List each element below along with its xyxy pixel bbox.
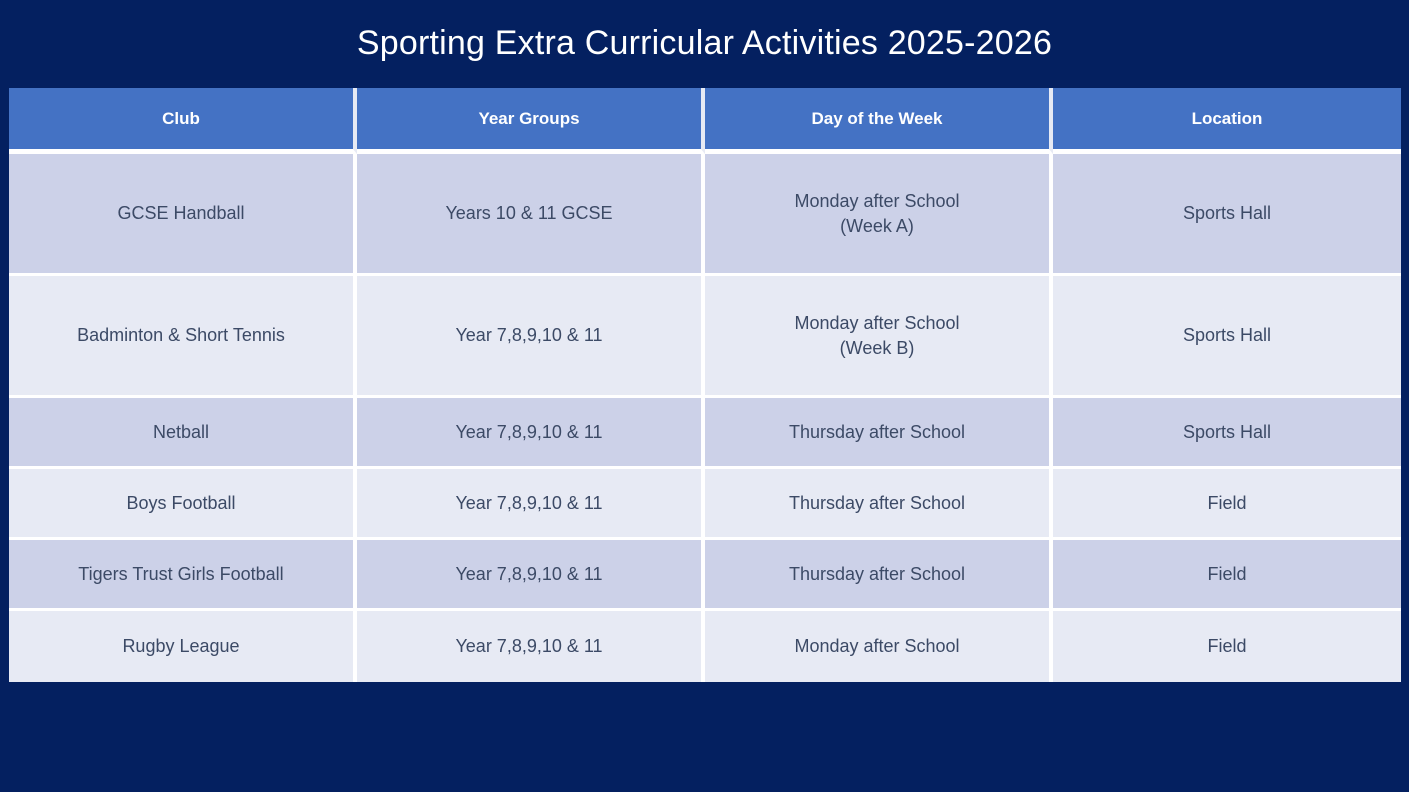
cell-day-of-the-week: Thursday after School	[705, 540, 1053, 611]
cell-location: Field	[1053, 469, 1401, 540]
table-row: Netball Year 7,8,9,10 & 11 Thursday afte…	[9, 398, 1401, 469]
table-header-row: Club Year Groups Day of the Week Locatio…	[9, 88, 1401, 154]
cell-location: Sports Hall	[1053, 276, 1401, 398]
cell-day-of-the-week: Thursday after School	[705, 398, 1053, 469]
table-body: GCSE Handball Years 10 & 11 GCSE Monday …	[9, 154, 1401, 682]
column-header-day-of-the-week: Day of the Week	[705, 88, 1053, 154]
cell-location: Sports Hall	[1053, 398, 1401, 469]
column-header-club: Club	[9, 88, 357, 154]
cell-club: Tigers Trust Girls Football	[9, 540, 357, 611]
cell-location: Field	[1053, 611, 1401, 682]
cell-day-line-1: Monday after School	[713, 311, 1041, 336]
page-title: Sporting Extra Curricular Activities 202…	[0, 20, 1409, 66]
cell-location: Sports Hall	[1053, 154, 1401, 276]
activities-table-container: Club Year Groups Day of the Week Locatio…	[9, 88, 1400, 691]
cell-club: Rugby League	[9, 611, 357, 682]
table-header: Club Year Groups Day of the Week Locatio…	[9, 88, 1401, 154]
activities-table: Club Year Groups Day of the Week Locatio…	[9, 88, 1401, 682]
cell-day-of-the-week: Monday after School	[705, 611, 1053, 682]
column-header-location: Location	[1053, 88, 1401, 154]
table-row: Tigers Trust Girls Football Year 7,8,9,1…	[9, 540, 1401, 611]
column-header-year-groups: Year Groups	[357, 88, 705, 154]
cell-day-line-2: (Week B)	[713, 336, 1041, 361]
cell-day-of-the-week: Monday after School (Week B)	[705, 276, 1053, 398]
cell-year-groups: Year 7,8,9,10 & 11	[357, 469, 705, 540]
cell-year-groups: Year 7,8,9,10 & 11	[357, 276, 705, 398]
cell-club: GCSE Handball	[9, 154, 357, 276]
cell-year-groups: Year 7,8,9,10 & 11	[357, 611, 705, 682]
cell-day-of-the-week: Thursday after School	[705, 469, 1053, 540]
cell-year-groups: Year 7,8,9,10 & 11	[357, 540, 705, 611]
cell-club: Netball	[9, 398, 357, 469]
cell-year-groups: Year 7,8,9,10 & 11	[357, 398, 705, 469]
cell-day-of-the-week: Monday after School (Week A)	[705, 154, 1053, 276]
table-row: Boys Football Year 7,8,9,10 & 11 Thursda…	[9, 469, 1401, 540]
cell-location: Field	[1053, 540, 1401, 611]
table-row: GCSE Handball Years 10 & 11 GCSE Monday …	[9, 154, 1401, 276]
cell-club: Boys Football	[9, 469, 357, 540]
cell-day-line-1: Monday after School	[713, 189, 1041, 214]
table-row: Rugby League Year 7,8,9,10 & 11 Monday a…	[9, 611, 1401, 682]
slide-canvas: Sporting Extra Curricular Activities 202…	[0, 0, 1409, 792]
table-row: Badminton & Short Tennis Year 7,8,9,10 &…	[9, 276, 1401, 398]
cell-day-line-2: (Week A)	[713, 214, 1041, 239]
cell-year-groups: Years 10 & 11 GCSE	[357, 154, 705, 276]
cell-club: Badminton & Short Tennis	[9, 276, 357, 398]
